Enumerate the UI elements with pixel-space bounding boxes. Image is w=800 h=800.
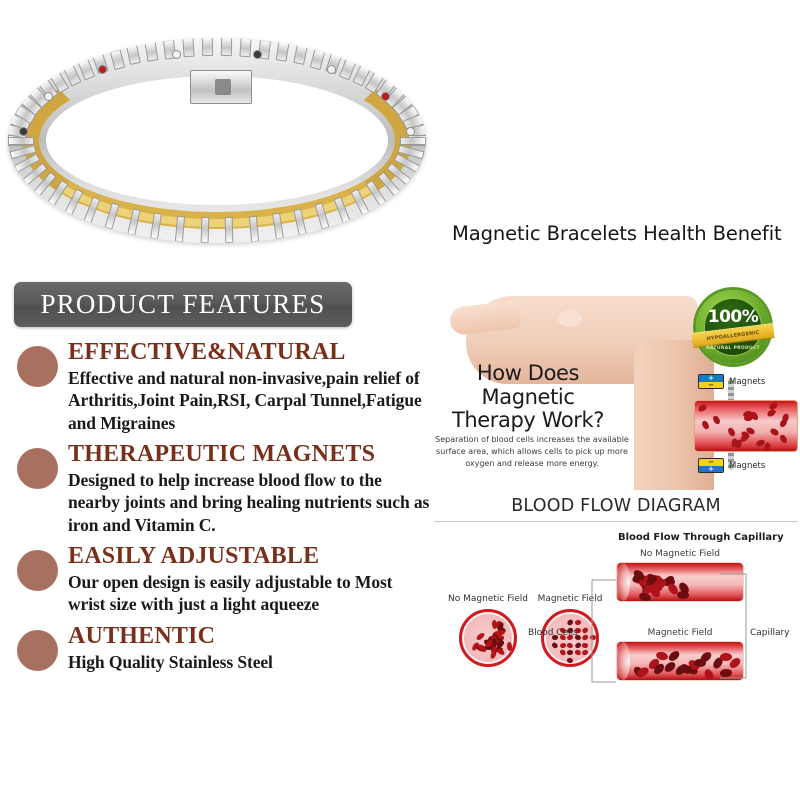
capillary-group: Blood Flow Through Capillary No Magnetic…: [600, 532, 800, 681]
blood-cell: [566, 642, 573, 648]
magnet-icon: − +: [698, 458, 724, 473]
magnetic-therapy-section: How Does Magnetic Therapy Work? Separati…: [432, 282, 800, 494]
feature-item: EFFECTIVE&NATURAL Effective and natural …: [0, 340, 430, 434]
capillary-note: Capillary: [750, 628, 790, 638]
bullet-dot-icon: [17, 550, 58, 591]
bracelet-link: [272, 213, 284, 240]
bracelet-magnet-insert: [19, 127, 28, 136]
blood-cell: [581, 626, 588, 633]
magnet-pole-negative: −: [699, 382, 723, 389]
feature-item: AUTHENTIC High Quality Stainless Steel: [0, 624, 430, 673]
product-features-banner-label: PRODUCT FEATURES: [40, 289, 325, 320]
blood-cell: [701, 420, 711, 431]
blood-cell: [574, 649, 581, 656]
blood-cell: [566, 619, 573, 626]
blood-cell: [589, 635, 595, 640]
blood-cell: [567, 657, 574, 663]
blood-cell: [769, 427, 780, 437]
bracelet-link: [145, 41, 159, 62]
blood-cell: [581, 634, 588, 641]
blood-cell: [677, 591, 690, 600]
blood-cell: [551, 641, 558, 648]
blood-cell: [574, 641, 581, 648]
bracelet-link: [202, 38, 213, 56]
quality-badge-icon: 100% HYPOALLERGENIC NATURAL PRODUCT: [696, 290, 770, 364]
divider: [434, 521, 798, 522]
blood-cell: [779, 434, 789, 445]
magnet-label: Magnets: [729, 377, 765, 387]
feature-item: EASILY ADJUSTABLE Our open design is eas…: [0, 544, 430, 616]
magnet-tag-top: + − Magnets: [698, 374, 765, 389]
blood-cell: [667, 649, 681, 663]
therapy-heading: How Does Magnetic Therapy Work?: [440, 362, 616, 433]
blood-flow-title: BLOOD FLOW DIAGRAM: [432, 496, 800, 521]
bracelet-link: [309, 48, 325, 69]
bracelet-link: [294, 208, 307, 235]
feature-item: THERAPEUTIC MAGNETS Designed to help inc…: [0, 442, 430, 536]
blood-cell: [768, 401, 779, 411]
product-photo: [0, 18, 430, 268]
bracelet-magnet-insert: [98, 65, 107, 74]
bracelet-link: [365, 180, 386, 206]
bullet-dot-icon: [17, 448, 58, 489]
badge-subtext: NATURAL PRODUCT: [696, 346, 770, 351]
bracelet-magnet-insert: [327, 65, 336, 74]
bracelet-link: [200, 217, 209, 243]
blood-cell: [703, 668, 715, 681]
bracelet-link: [182, 38, 194, 57]
blood-cell: [559, 642, 566, 648]
bracelet-link: [127, 208, 140, 235]
bracelet-link: [249, 216, 259, 243]
blood-cell: [574, 620, 581, 625]
bracelet-link: [8, 137, 34, 145]
feature-body: High Quality Stainless Steel: [68, 651, 430, 673]
bracelet-link: [221, 38, 232, 56]
feature-heading: AUTHENTIC: [68, 624, 430, 650]
blood-cell: [727, 427, 737, 438]
blood-cell: [720, 668, 733, 677]
bracelet-link: [275, 41, 289, 62]
magnet-icon: + −: [698, 374, 724, 389]
bracelet-magnet-insert: [253, 50, 262, 59]
badge-ribbon-label: HYPOALLERGENIC: [706, 329, 759, 341]
bracelet-link: [109, 48, 125, 69]
capillary-title: Blood Flow Through Capillary: [618, 532, 800, 543]
bullet-dot-icon: [17, 630, 58, 671]
blood-cell: [764, 442, 771, 452]
bracelet-magnet-insert: [44, 92, 53, 101]
blood-cell: [559, 649, 566, 656]
bracelet-link: [65, 189, 84, 216]
feature-body: Designed to help increase blood flow to …: [68, 469, 430, 536]
bracelet-link: [400, 137, 426, 145]
bracelet-link: [104, 203, 119, 230]
bracelet-link: [239, 38, 251, 57]
magnet-pole-positive: +: [699, 466, 723, 473]
therapy-caption: Separation of blood cells increases the …: [434, 434, 630, 470]
blood-cell: [507, 641, 513, 650]
page-title: Magnetic Bracelets Health Benefit: [452, 222, 797, 245]
blood-cell: [581, 649, 588, 656]
bracelet-link: [225, 217, 234, 243]
blood-cell: [720, 653, 732, 661]
bracelet-link: [350, 189, 369, 216]
info-panel: How Does Magnetic Therapy Work? Separati…: [432, 282, 800, 742]
bracelet-link: [48, 180, 69, 206]
feature-heading: EFFECTIVE&NATURAL: [68, 340, 430, 366]
bracelet-link: [127, 45, 142, 66]
feature-list: EFFECTIVE&NATURAL Effective and natural …: [0, 340, 430, 681]
bracelet-magnet-insert: [406, 127, 415, 136]
blood-cell: [567, 650, 574, 655]
capillary-tube-magnetic-field: [616, 641, 744, 681]
feature-heading: THERAPEUTIC MAGNETS: [68, 442, 430, 468]
blood-cell: [711, 415, 721, 426]
bracelet-link: [333, 196, 350, 223]
feature-body: Effective and natural non-invasive,pain …: [68, 367, 430, 434]
bracelet-links: [8, 38, 426, 243]
capillary-bottom-label: Magnetic Field: [616, 628, 744, 638]
bracelet-link: [293, 45, 308, 66]
bracelet-magnet-insert: [172, 50, 181, 59]
blood-cell: [778, 417, 788, 428]
bullet-dot-icon: [17, 346, 58, 387]
bracelet-link: [314, 203, 329, 230]
blood-flow-diagram-section: BLOOD FLOW DIAGRAM No Magnetic Field Mag…: [432, 496, 800, 727]
hand-fingernail: [558, 310, 582, 327]
product-features-banner: PRODUCT FEATURES: [14, 282, 352, 327]
cross-section-no-field: No Magnetic Field: [446, 594, 530, 667]
blood-cell: [698, 403, 709, 413]
bracelet-link: [84, 196, 101, 223]
capillary-top-label: No Magnetic Field: [616, 549, 744, 559]
bracelet-link: [151, 213, 163, 240]
blood-flow-body: No Magnetic Field Magnetic Field Blood F…: [432, 532, 800, 727]
capillary-tube-no-field: [616, 562, 744, 602]
magnet-tag-bottom: − + Magnets: [698, 458, 765, 473]
cross-section-circle: [459, 609, 517, 667]
blood-vessel-illustration: [694, 400, 798, 452]
bracelet-clasp: [190, 70, 252, 104]
bracelet-link: [77, 59, 94, 81]
magnet-label: Magnets: [729, 461, 765, 471]
blood-cell: [582, 642, 589, 647]
feature-body: Our open design is easily adjustable to …: [68, 571, 430, 616]
bracelet-link: [175, 216, 185, 243]
leader-lines: [580, 532, 780, 712]
product-features-section: PRODUCT FEATURES EFFECTIVE&NATURAL Effec…: [0, 282, 430, 782]
bracelet-image: [8, 38, 426, 243]
cross-section-circle: [541, 609, 599, 667]
cross-section-label: No Magnetic Field: [446, 594, 530, 604]
feature-heading: EASILY ADJUSTABLE: [68, 544, 430, 570]
blood-cells-note: Blood Cells: [528, 628, 578, 638]
